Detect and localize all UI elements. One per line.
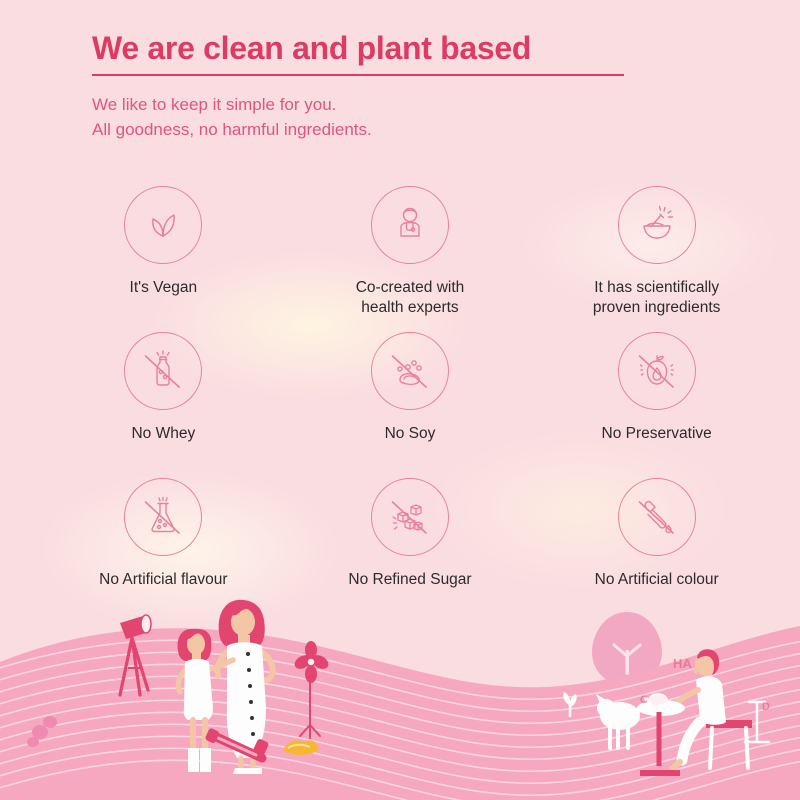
floating-label-ha: HA [673,656,692,671]
milk-bottle-icon [124,332,202,410]
subtitle: We like to keep it simple for you. All g… [92,92,752,143]
fruit-drop-icon [618,332,696,410]
doctor-icon [371,186,449,264]
infographic-page: We are clean and plant based We like to … [0,0,800,800]
feature-label: No Artificial flavour [99,570,227,590]
title-underline [92,74,624,76]
feature-label: No Whey [131,424,195,444]
mortar-pestle-icon [618,186,696,264]
feature-item: No Whey [40,332,287,478]
feature-label: It has scientifically proven ingredients [593,278,721,319]
feature-grid: It's Vegan Co-created with health expert… [40,186,780,624]
bottom-illustration [0,590,800,800]
floating-label-c: C [640,694,648,706]
feature-item: Co-created with health experts [287,186,534,332]
soy-beans-icon [371,332,449,410]
page-title: We are clean and plant based [92,30,752,67]
dropper-icon [618,478,696,556]
floating-label-d: D [762,701,770,713]
feature-label: No Soy [385,424,436,444]
subtitle-line-1: We like to keep it simple for you. [92,92,752,118]
feature-label: No Artificial colour [595,570,719,590]
feature-label: No Preservative [602,424,712,444]
sugar-cubes-icon [371,478,449,556]
leaves-icon [124,186,202,264]
illustration-artwork [0,590,800,800]
flask-icon [124,478,202,556]
header: We are clean and plant based We like to … [92,30,752,143]
feature-label: No Refined Sugar [348,570,471,590]
feature-item: No Soy [287,332,534,478]
feature-label: It's Vegan [130,278,198,298]
feature-item: It's Vegan [40,186,287,332]
feature-label: Co-created with health experts [356,278,465,319]
subtitle-line-2: All goodness, no harmful ingredients. [92,117,752,143]
feature-item: It has scientifically proven ingredients [533,186,780,332]
feature-item: No Preservative [533,332,780,478]
